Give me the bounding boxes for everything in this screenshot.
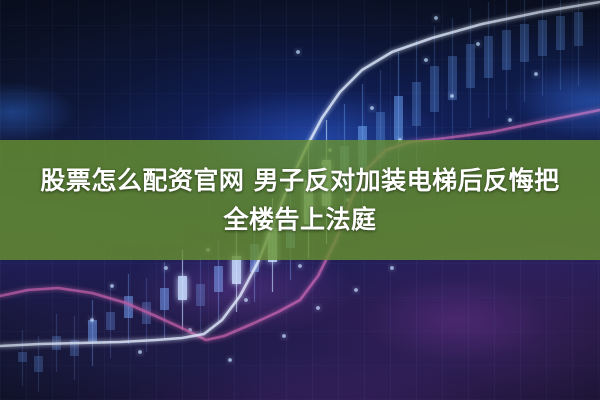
headline-title: 股票怎么配资官网 男子反对加装电梯后反悔把全楼告上法庭 <box>30 161 570 239</box>
headline-band: 股票怎么配资官网 男子反对加装电梯后反悔把全楼告上法庭 <box>0 140 600 260</box>
banner-image: 股票怎么配资官网 男子反对加装电梯后反悔把全楼告上法庭 <box>0 0 600 400</box>
